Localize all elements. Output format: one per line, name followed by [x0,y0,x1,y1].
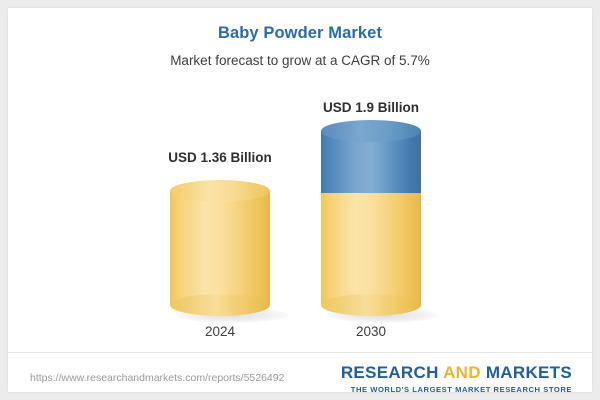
logo-word-and: AND [443,363,481,382]
bar-group-2030: USD 1.9 Billion 2030 [311,8,431,352]
logo-wordmark: RESEARCH AND MARKETS [341,364,572,382]
cylinder-body-base [170,191,270,305]
cylinder-bottom-ellipse [170,294,270,316]
cylinder-body-base [321,191,421,305]
cylinder-2024[interactable] [170,180,270,316]
logo-word-markets: MARKETS [486,363,572,382]
bar-group-2024: USD 1.36 Billion 2024 [160,8,280,352]
footer-divider [8,352,592,353]
plot-area: USD 1.36 Billion 2024 USD 1.9 Billion [8,8,592,352]
brand-logo[interactable]: RESEARCH AND MARKETS THE WORLD'S LARGEST… [341,364,572,394]
logo-word-research: RESEARCH [341,363,439,382]
category-label-2030: 2030 [311,324,431,339]
value-label-2030: USD 1.9 Billion [271,100,471,115]
source-url[interactable]: https://www.researchandmarkets.com/repor… [30,372,284,384]
cylinder-2030[interactable] [321,120,421,316]
logo-tagline: THE WORLD'S LARGEST MARKET RESEARCH STOR… [341,385,572,394]
cylinder-top-ellipse [321,120,421,142]
cylinder-top-ellipse [170,180,270,202]
value-label-2024: USD 1.36 Billion [120,150,320,165]
cylinder-bottom-ellipse [321,294,421,316]
category-label-2024: 2024 [160,324,280,339]
chart-card: Baby Powder Market Market forecast to gr… [8,8,592,392]
